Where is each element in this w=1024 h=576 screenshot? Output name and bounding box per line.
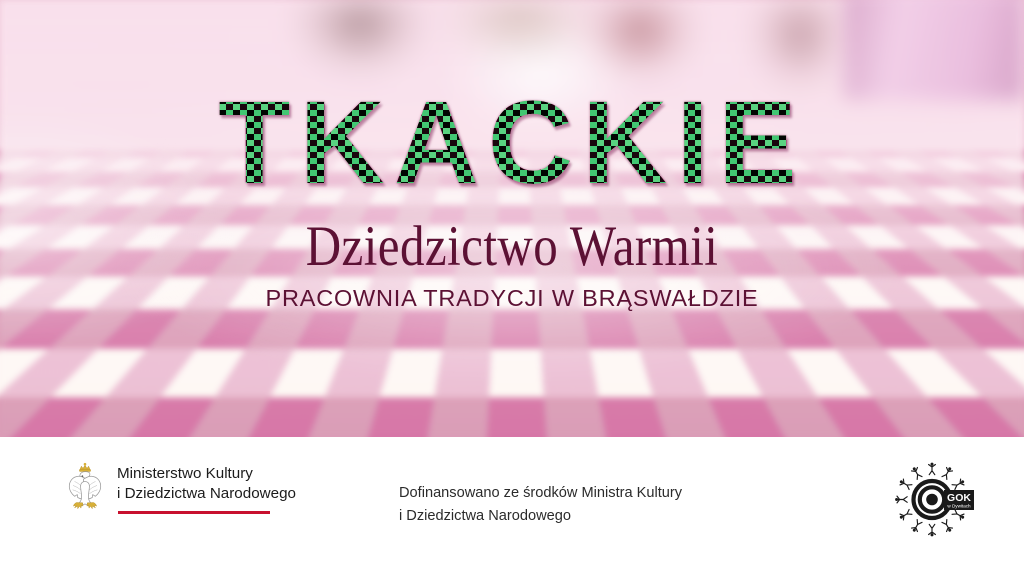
hero-blur-wrapper [0,0,1024,437]
gok-sun-dancers-logo-icon: GOK w Dywitach [894,459,976,541]
funding-note-line1: Dofinansowano ze środków Ministra Kultur… [399,482,682,505]
ministry-name-line1: Ministerstwo Kultury [117,464,296,484]
ministry-text-wrap: Ministerstwo Kultury i Dziedzictwa Narod… [117,464,296,514]
poster-root: TKACKIE Dziedzictwo Warmii PRACOWNIA TRA… [0,0,1024,576]
polish-eagle-emblem-icon [62,461,108,517]
fabric-roll-blur [844,0,1024,100]
funding-note: Dofinansowano ze środków Ministra Kultur… [399,482,682,527]
hero-photo-area: TKACKIE Dziedzictwo Warmii PRACOWNIA TRA… [0,0,1024,437]
footer-bar: Ministerstwo Kultury i Dziedzictwa Narod… [0,437,1024,576]
gok-label: GOK [947,492,971,504]
ministry-name-line2: i Dziedzictwa Narodowego [117,484,296,504]
ministry-logo: Ministerstwo Kultury i Dziedzictwa Narod… [62,461,296,517]
gok-sublabel: w Dywitach [947,504,971,509]
ministry-red-rule [118,511,270,514]
funding-note-line2: i Dziedzictwa Narodowego [399,505,682,528]
